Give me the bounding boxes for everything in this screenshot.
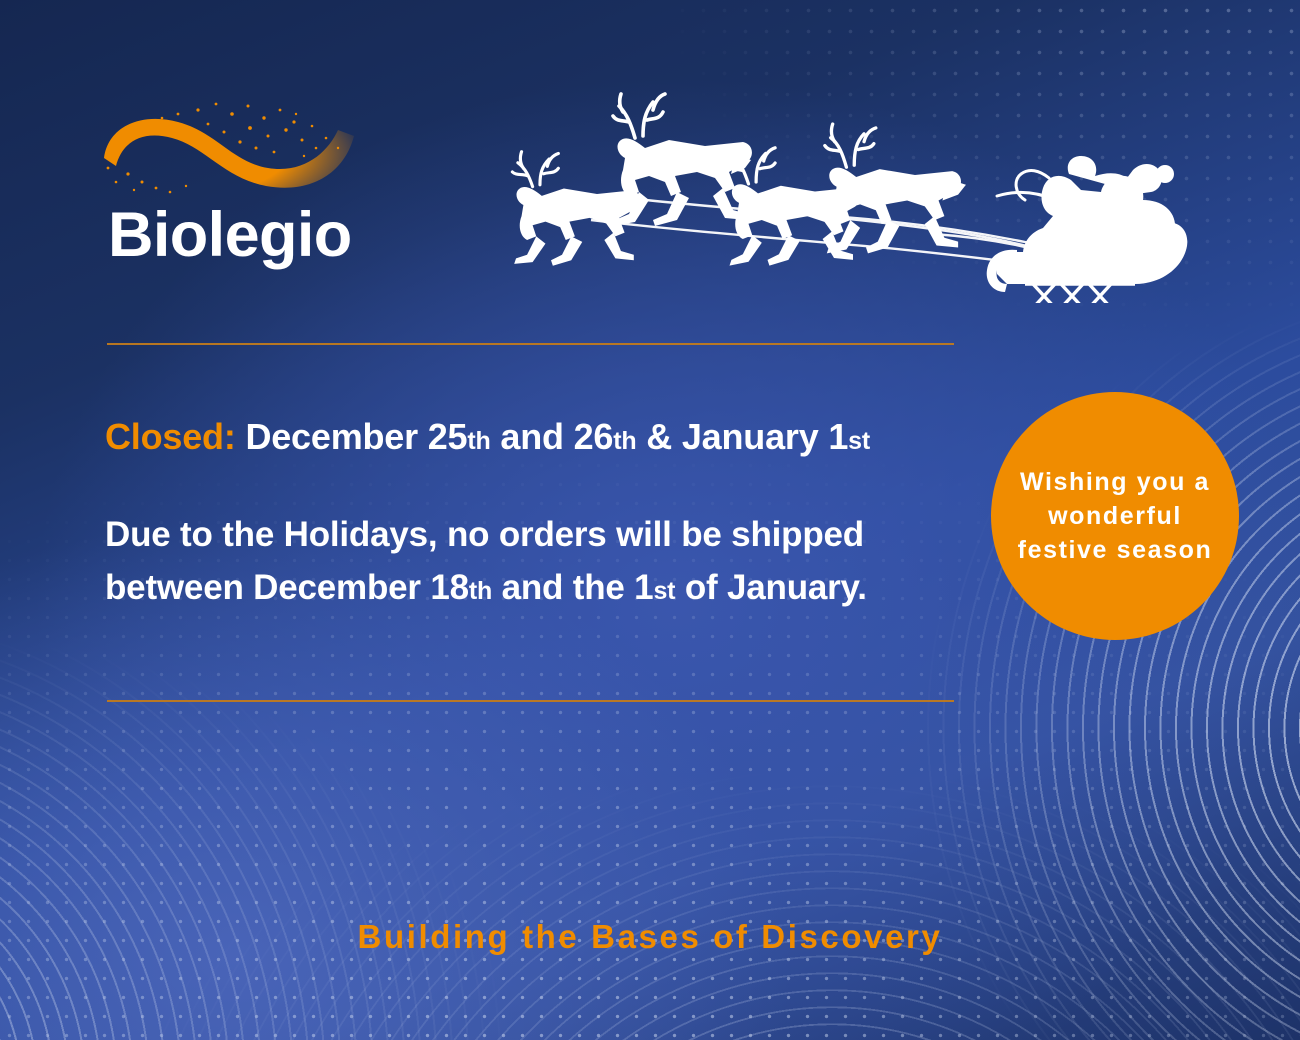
- closure-date-1: December 25: [245, 416, 467, 457]
- closure-headline: Closed: December 25th and 26th & January…: [105, 414, 945, 459]
- brand-tagline: Building the Bases of Discovery: [0, 918, 1300, 956]
- santa-sleigh-reindeer-icon: [495, 88, 1215, 303]
- ordinal-suffix-5: st: [653, 577, 675, 605]
- shipping-notice: Due to the Holidays, no orders will be s…: [105, 509, 945, 614]
- shipping-notice-line-1: Due to the Holidays, no orders will be s…: [105, 515, 864, 554]
- ordinal-suffix-1: th: [467, 427, 490, 455]
- closed-label: Closed:: [105, 416, 236, 457]
- holiday-announcement-banner: Biolegio: [0, 0, 1300, 1040]
- ordinal-suffix-3: st: [848, 427, 870, 455]
- divider-bottom: [107, 700, 954, 702]
- brand-wordmark: Biolegio: [108, 204, 398, 267]
- shipping-notice-line-2b: and the 1: [492, 568, 653, 607]
- shipping-notice-line-2a: between December 18: [105, 568, 469, 607]
- announcement-copy: Closed: December 25th and 26th & January…: [105, 414, 945, 614]
- divider-top: [107, 343, 954, 345]
- ordinal-suffix-4: th: [469, 577, 492, 605]
- festive-season-badge: Wishing you a wonderful festive season: [991, 392, 1239, 640]
- festive-season-badge-label: Wishing you a wonderful festive season: [991, 465, 1239, 567]
- ordinal-suffix-2: th: [613, 427, 636, 455]
- dotted-wave-logo-icon: [98, 96, 362, 200]
- shipping-notice-line-2c: of January.: [675, 568, 866, 607]
- closure-date-3: & January 1: [636, 416, 848, 457]
- closure-date-2: and 26: [491, 416, 614, 457]
- brand-logo: Biolegio: [98, 96, 398, 267]
